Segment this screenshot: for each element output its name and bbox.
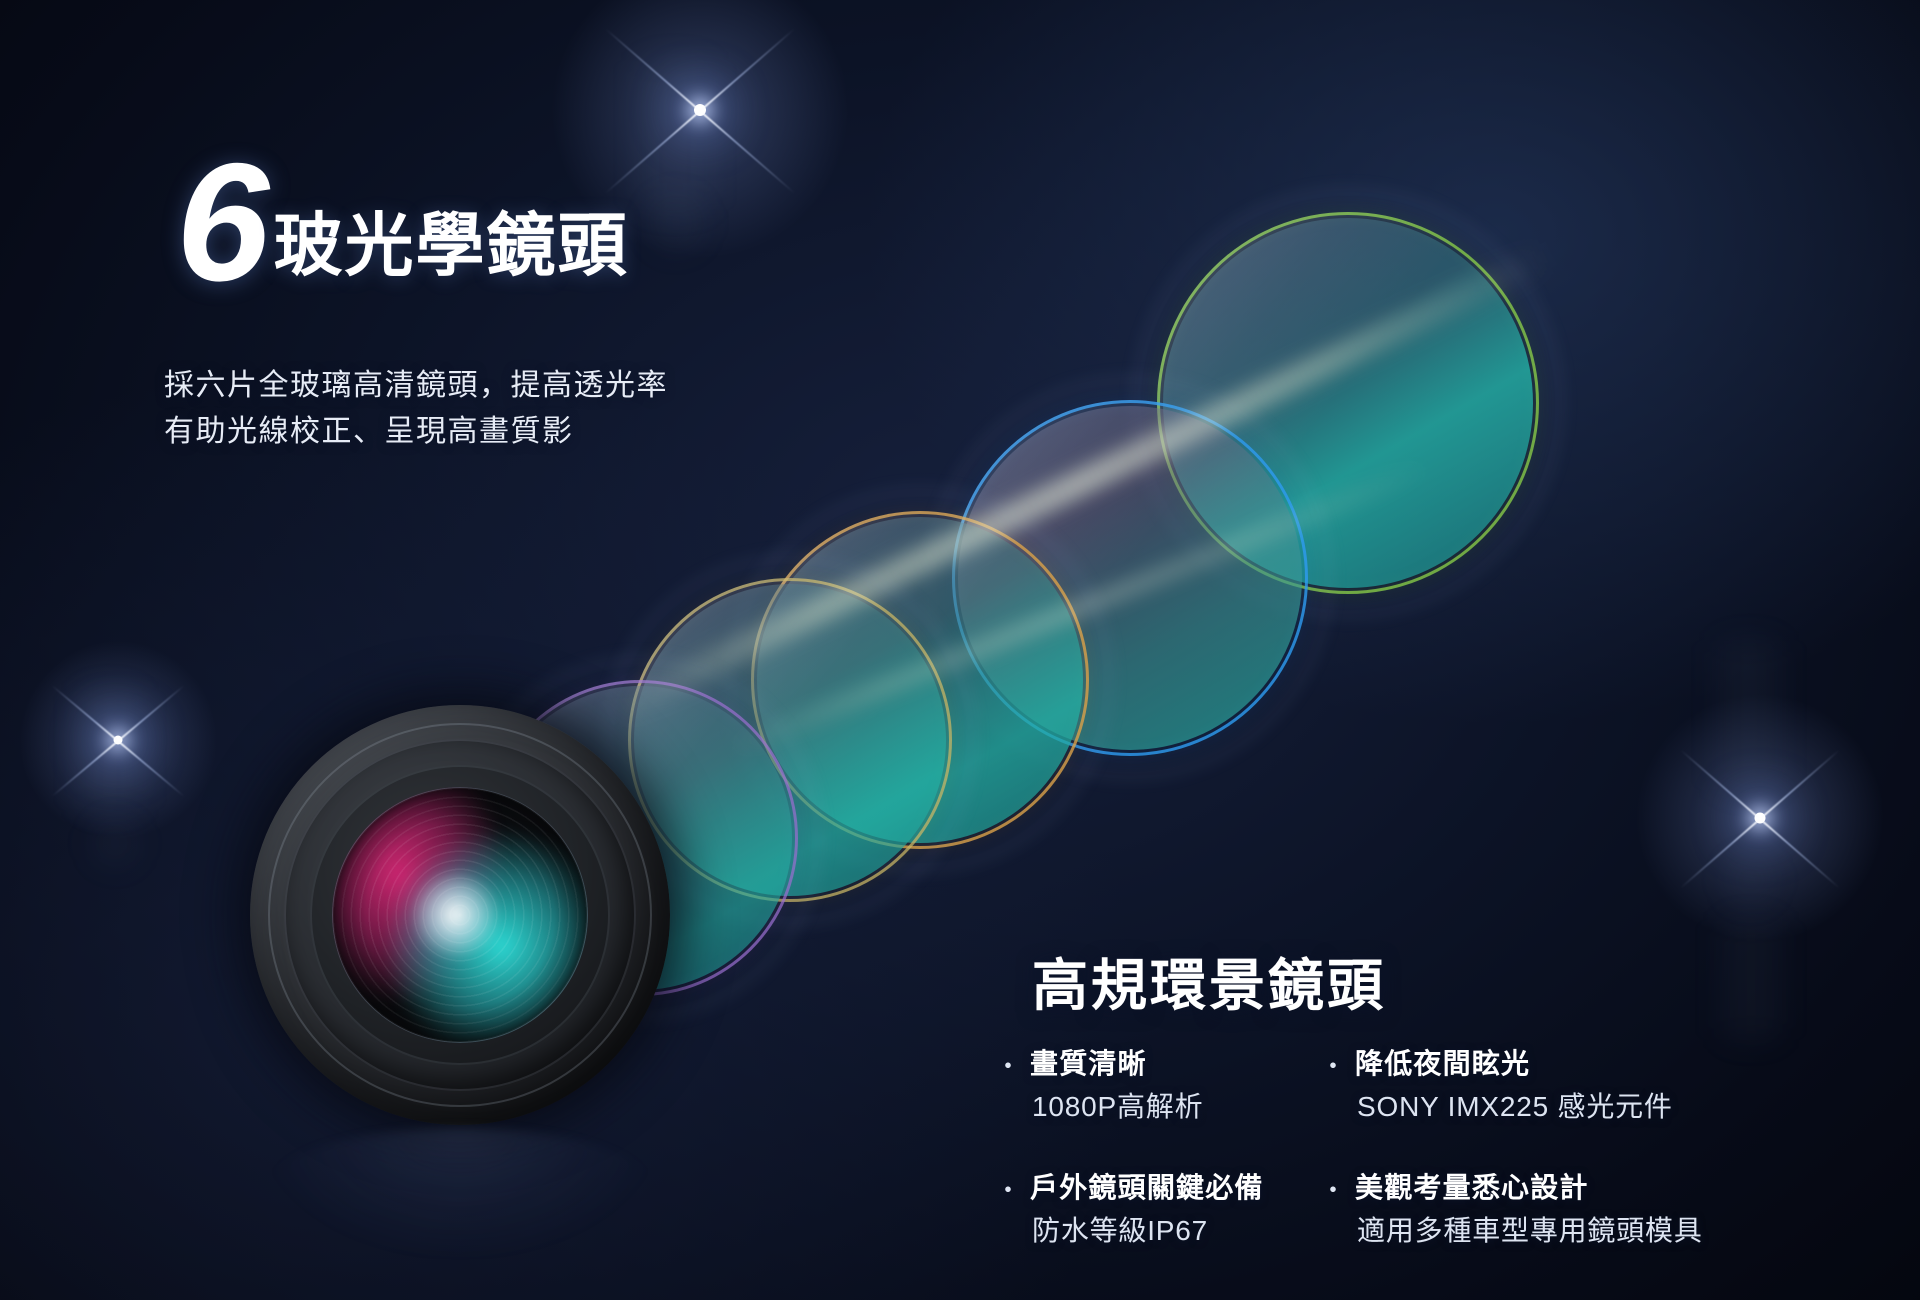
backdrop-ghost-1: [640, 60, 710, 210]
feature-body: 降低夜間眩光 SONY IMX225 感光元件: [1355, 1046, 1673, 1128]
backdrop-ghost-7: [1722, 920, 1780, 1040]
feature-list: ・ 畫質清晰 1080P高解析 ・ 降低夜間眩光 SONY IMX225 感光元…: [995, 1046, 1740, 1252]
backdrop-ghost-3: [80, 690, 140, 810]
headline-title: 玻光學鏡頭: [273, 211, 628, 294]
lens-iris: [332, 787, 588, 1043]
flare-ray: [699, 110, 795, 194]
backdrop-ghost-5: [1718, 640, 1780, 790]
backdrop-ghost-4: [92, 820, 138, 866]
bullet-icon: ・: [1320, 1170, 1346, 1203]
barrel-floor-reflection: [260, 1128, 660, 1258]
feature-body: 美觀考量悉心設計 適用多種車型專用鏡頭模具: [1355, 1170, 1703, 1252]
feature-description: SONY IMX225 感光元件: [1355, 1087, 1673, 1128]
feature-item-design: ・ 美觀考量悉心設計 適用多種車型專用鏡頭模具: [1320, 1170, 1740, 1252]
page-title: 6 玻光學鏡頭: [176, 150, 628, 294]
feature-description: 防水等級IP67: [1030, 1211, 1264, 1252]
camera-lens-barrel: [250, 705, 670, 1125]
flare-core: [1755, 813, 1766, 824]
lede-paragraph: 採六片全玻璃高清鏡頭，提高透光率 有助光線校正、呈現高畫質影: [164, 363, 668, 454]
feature-body: 戶外鏡頭關鍵必備 防水等級IP67: [1030, 1170, 1264, 1252]
bullet-icon: ・: [995, 1046, 1021, 1079]
iris-arc-glint: [332, 787, 588, 1043]
lede-line-2: 有助光線校正、呈現高畫質影: [164, 409, 668, 455]
feature-item-image-quality: ・ 畫質清晰 1080P高解析: [995, 1046, 1315, 1128]
backdrop-ghost-2: [648, 195, 704, 251]
bullet-icon: ・: [1320, 1046, 1346, 1079]
feature-title: 畫質清晰: [1030, 1046, 1203, 1082]
flare-ray: [699, 28, 795, 112]
feature-title: 戶外鏡頭關鍵必備: [1030, 1170, 1264, 1206]
headline-numeral: 6: [176, 150, 263, 294]
bullet-icon: ・: [995, 1170, 1021, 1203]
feature-item-night-glare: ・ 降低夜間眩光 SONY IMX225 感光元件: [1320, 1046, 1740, 1128]
feature-title: 美觀考量悉心設計: [1355, 1170, 1703, 1206]
feature-body: 畫質清晰 1080P高解析: [1030, 1046, 1203, 1128]
backdrop-ghost-6: [1726, 856, 1774, 904]
feature-title: 降低夜間眩光: [1355, 1046, 1673, 1082]
feature-description: 適用多種車型專用鏡頭模具: [1355, 1211, 1703, 1252]
section-title: 高規環景鏡頭: [1032, 941, 1386, 1022]
poster-canvas: 6 玻光學鏡頭 採六片全玻璃高清鏡頭，提高透光率 有助光線校正、呈現高畫質影 高…: [0, 0, 1920, 1300]
feature-description: 1080P高解析: [1030, 1087, 1203, 1128]
feature-item-waterproof: ・ 戶外鏡頭關鍵必備 防水等級IP67: [995, 1170, 1315, 1252]
lede-line-1: 採六片全玻璃高清鏡頭，提高透光率: [164, 363, 668, 409]
